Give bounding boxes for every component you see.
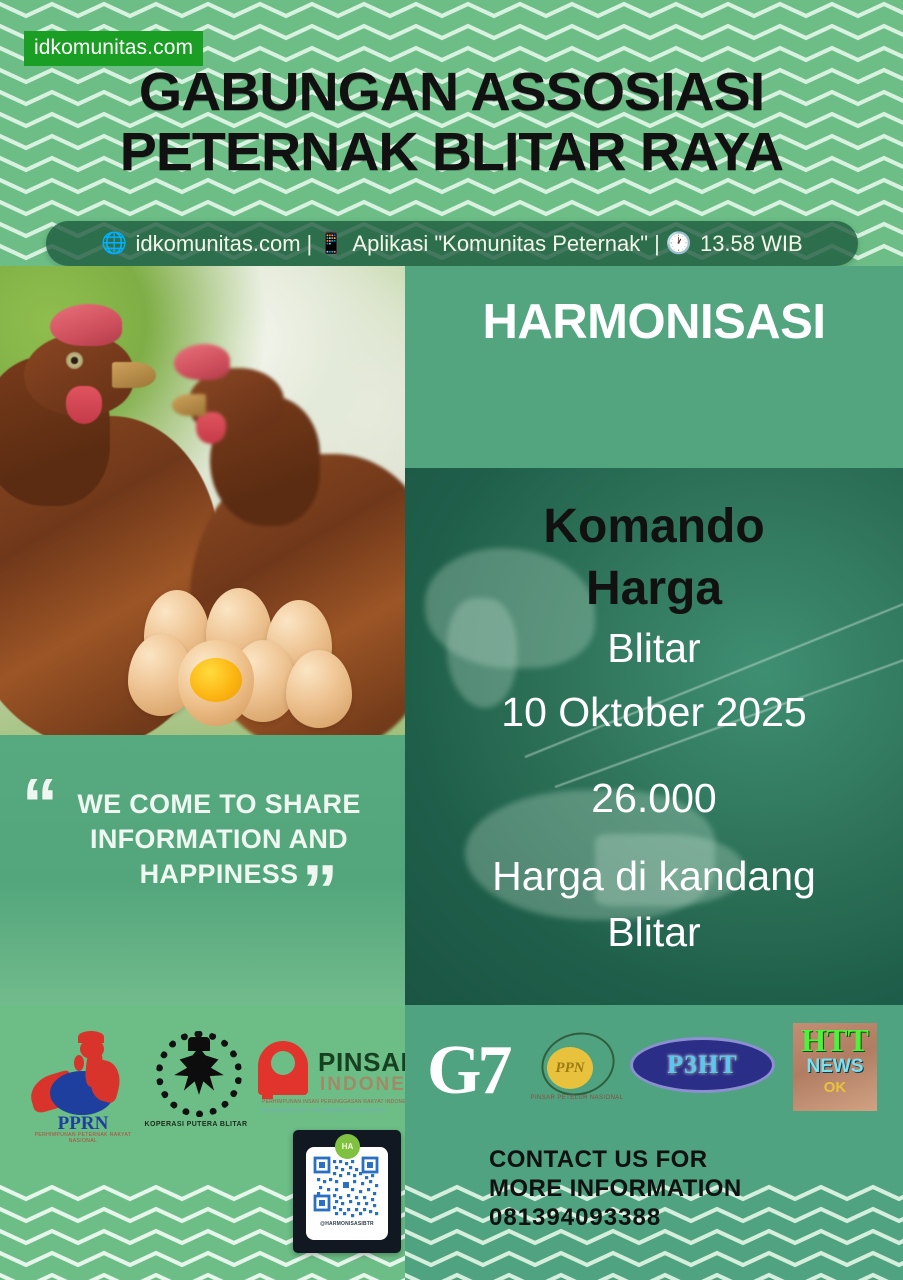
harmonisasi-title: HARMONISASI: [483, 294, 826, 350]
mobile-phone-icon: 📱: [318, 233, 344, 254]
info-bar: 🌐 idkomunitas.com | 📱 Aplikasi "Komunita…: [46, 221, 858, 266]
harmonisasi-band: HARMONISASI: [405, 266, 903, 468]
info-time: 13.58 WIB: [692, 231, 803, 257]
quote-close-icon: ”: [302, 855, 338, 927]
title-line-2: PETERNAK BLITAR RAYA: [0, 122, 903, 182]
pinsar-tagline-1: PERHIMPUNAN INSAN PERUNGGASAN RAKYAT IND…: [262, 1099, 405, 1105]
g7-logo-icon: G7: [427, 1025, 519, 1117]
pinsar-indonesia-logo-icon: PINSAR INDONESIA PERHIMPUNAN INSAN PERUN…: [258, 1041, 405, 1141]
contact-block: CONTACT US FOR MORE INFORMATION 08139409…: [489, 1145, 889, 1232]
harga-value: 26.000: [405, 748, 903, 848]
poster-header: idkomunitas.com GABUNGAN ASSOSIASI PETER…: [0, 0, 903, 266]
harga-keterangan-line-2: Blitar: [405, 904, 903, 960]
contact-phone[interactable]: 081394093388: [489, 1203, 889, 1232]
globe-icon: 🌐: [101, 233, 127, 254]
quote-panel: “ WE COME TO SHARE INFORMATION AND HAPPI…: [0, 735, 405, 1005]
info-website[interactable]: idkomunitas.com: [127, 231, 300, 257]
harga-heading: Harga: [405, 558, 903, 620]
qr-handle-text: @HARMONISASIBTR: [306, 1221, 388, 1227]
komando-heading: Komando: [405, 468, 903, 558]
detail-panel: Komando Harga Blitar 10 Oktober 2025 26.…: [405, 468, 903, 1005]
qr-code-card[interactable]: HA: [293, 1130, 401, 1253]
qr-badge: HA: [335, 1134, 360, 1159]
p3ht-label: P3HT: [667, 1050, 737, 1080]
harga-keterangan-line-1: Harga di kandang: [405, 848, 903, 904]
tanggal-label: 10 Oktober 2025: [405, 676, 903, 748]
koperasi-putera-blitar-logo-icon: KOPERASI PUTERA BLITAR: [138, 1031, 254, 1143]
qr-matrix-icon: [313, 1156, 381, 1218]
p3ht-logo-icon: P3HT: [630, 1037, 775, 1093]
kota-label: Blitar: [405, 620, 903, 676]
right-column: HARMONISASI Komando Harga Blitar 10 Okto…: [405, 266, 903, 1005]
htt-ok-label: OK: [793, 1079, 877, 1097]
pinsar-p-mark-icon: [258, 1041, 312, 1099]
watermark-badge: idkomunitas.com: [24, 31, 203, 66]
chicken-egg-photo: [0, 266, 405, 735]
pprn-sublabel: PERHIMPUNAN PETERNAK RAKYAT NASIONAL: [28, 1132, 138, 1144]
info-separator-1: |: [301, 231, 319, 257]
clock-icon: 🕐: [666, 233, 692, 254]
htt-label: HTT: [793, 1023, 877, 1057]
watermark-text: idkomunitas.com: [34, 36, 193, 59]
footer-right-logos: G7 PPN PINSAR PETELUR NASIONAL P3HT HTT …: [405, 1005, 903, 1280]
cracked-egg-icon: [178, 640, 254, 726]
quote-open-icon: “: [22, 769, 58, 841]
ppn-pinsar-petelur-nasional-logo-icon: PPN PINSAR PETELUR NASIONAL: [523, 1029, 631, 1119]
ppn-monogram: PPN: [547, 1047, 593, 1089]
htt-news-logo-icon: HTT NEWS OK: [793, 1023, 877, 1111]
partner-logos-left: PPRN PERHIMPUNAN PETERNAK RAKYAT NASIONA…: [14, 1027, 404, 1137]
title-line-1: GABUNGAN ASSOSIASI: [0, 62, 903, 122]
poster-footer: PPRN PERHIMPUNAN PETERNAK RAKYAT NASIONA…: [0, 1005, 903, 1280]
koperasi-label: KOPERASI PUTERA BLITAR: [138, 1121, 254, 1128]
pinsar-sub: INDONESIA: [320, 1074, 405, 1096]
pprn-logo-icon: PPRN PERHIMPUNAN PETERNAK RAKYAT NASIONA…: [28, 1033, 138, 1137]
contact-line-1: CONTACT US FOR: [489, 1145, 889, 1174]
contact-line-2: MORE INFORMATION: [489, 1174, 889, 1203]
info-separator-2: |: [648, 231, 666, 257]
detail-text: Komando Harga Blitar 10 Oktober 2025 26.…: [405, 468, 903, 1005]
info-app-name: Aplikasi "Komunitas Peternak": [344, 231, 648, 257]
htt-news-label: NEWS: [793, 1056, 877, 1078]
quote-line-1: WE COME TO SHARE: [54, 787, 384, 822]
qr-code-inner: @HARMONISASIBTR: [306, 1147, 388, 1240]
pinsar-tagline-2: INDONESIAN POULTRY FARMERS ASSOCIATION: [262, 1108, 405, 1114]
eggs-group: [120, 588, 370, 728]
poster-main: “ WE COME TO SHARE INFORMATION AND HAPPI…: [0, 266, 903, 1005]
left-column: “ WE COME TO SHARE INFORMATION AND HAPPI…: [0, 266, 405, 1005]
poster-root: idkomunitas.com GABUNGAN ASSOSIASI PETER…: [0, 0, 903, 1280]
ppn-sublabel: PINSAR PETELUR NASIONAL: [523, 1095, 631, 1101]
poster-title: GABUNGAN ASSOSIASI PETERNAK BLITAR RAYA: [0, 62, 903, 182]
